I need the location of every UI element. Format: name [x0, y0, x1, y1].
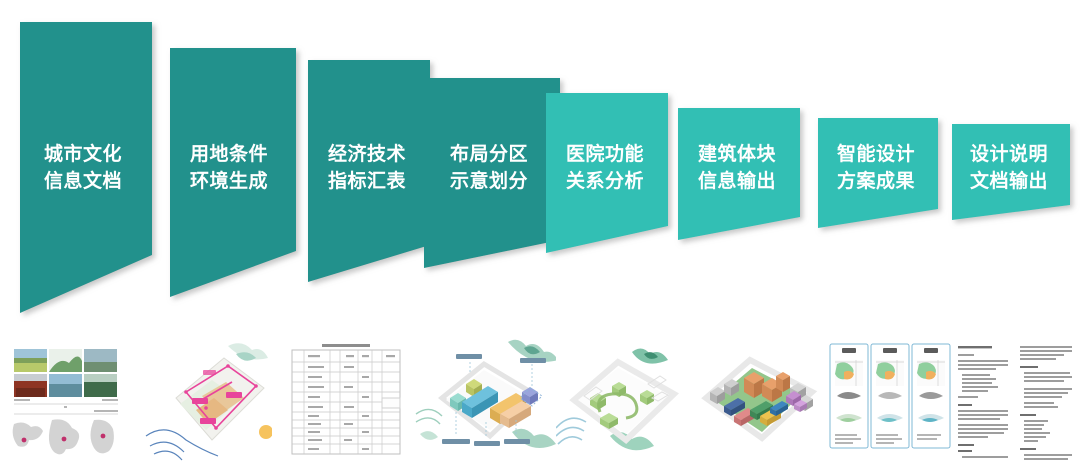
thumbnail-design-description-doc[interactable] — [952, 336, 1080, 464]
diagram-canvas: 城市文化 信息文档 用地条件 环境生成 经济技术 指标汇表 布局分区 示意划分 … — [0, 0, 1080, 464]
thumbnail-site-condition-plan[interactable] — [140, 336, 272, 464]
step-shape-8[interactable] — [952, 124, 1070, 220]
step-shape-5[interactable] — [546, 93, 668, 253]
thumbnail-functional-zoning-axon[interactable] — [412, 336, 562, 464]
step-shape-3[interactable] — [308, 60, 430, 282]
process-flow: 城市文化 信息文档 用地条件 环境生成 经济技术 指标汇表 布局分区 示意划分 … — [0, 0, 1080, 335]
step-shape-6[interactable] — [678, 108, 800, 240]
scheme-card-2 — [871, 344, 909, 448]
step-shape-7[interactable] — [818, 118, 938, 228]
step-shape-4[interactable] — [424, 78, 560, 268]
thumbnail-strip — [0, 336, 1080, 464]
table-title — [322, 344, 370, 347]
step-shape-2[interactable] — [170, 48, 296, 297]
thumbnail-city-culture-photo-board[interactable] — [2, 336, 134, 464]
thumbnail-building-massing-model[interactable] — [690, 336, 830, 464]
scheme-card-3 — [912, 344, 950, 448]
thumbnail-economic-index-table[interactable] — [286, 336, 408, 464]
scheme-card-1 — [830, 344, 868, 448]
step-shape-1[interactable] — [20, 22, 152, 313]
thumbnail-hospital-relation-axon[interactable] — [556, 336, 696, 464]
thumbnail-scheme-comparison-cards[interactable] — [826, 336, 954, 464]
